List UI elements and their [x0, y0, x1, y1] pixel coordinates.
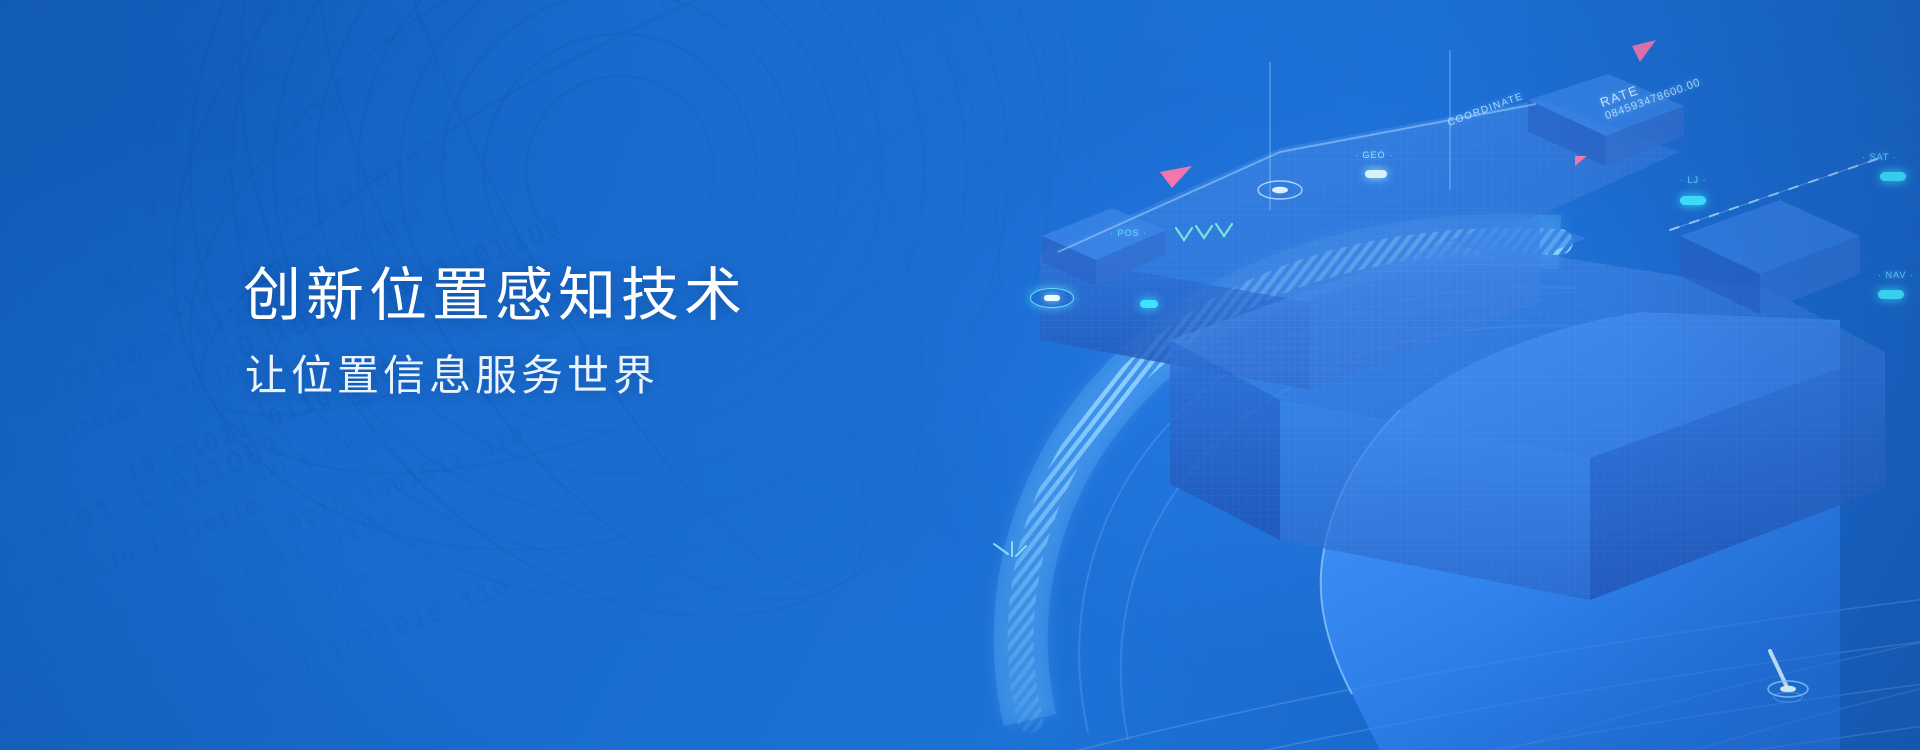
page-title: 创新位置感知技术 [243, 262, 1003, 329]
hero-banner: 01001011 0100 1 01101 00110 010010 11010… [0, 0, 1920, 750]
page-subtitle: 让位置信息服务世界 [245, 351, 1003, 401]
hero-copy: 创新位置感知技术 让位置信息服务世界 [243, 262, 1003, 402]
